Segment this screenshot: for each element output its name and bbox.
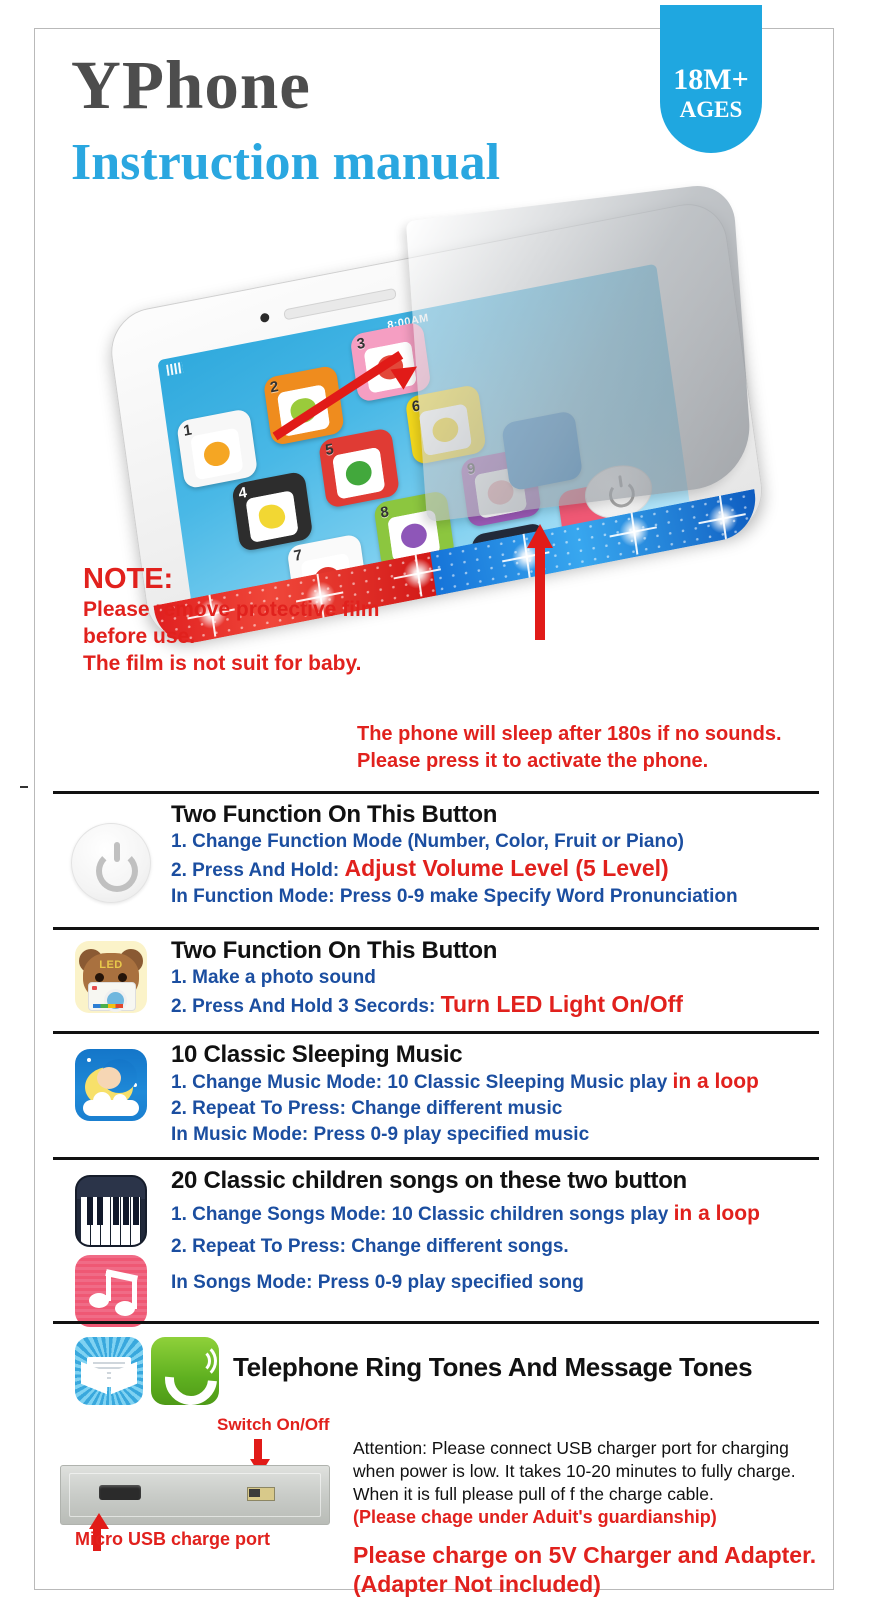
- piano-black-keys: [81, 1197, 141, 1225]
- power-glyph-icon: [96, 850, 138, 892]
- sleep-note-block: The phone will sleep after 180s if no so…: [357, 721, 782, 775]
- sleep-note-line-1: The phone will sleep after 180s if no so…: [357, 721, 782, 748]
- arrow-to-power-button-head: [527, 524, 553, 548]
- section-line-1: 1. Change Function Mode (Number, Color, …: [171, 829, 821, 855]
- cloud-icon: [83, 1100, 139, 1116]
- note-block: NOTE: Please remove protective film befo…: [83, 562, 379, 677]
- section-line-1: 1. Change Music Mode: 10 Classic Sleepin…: [171, 1069, 839, 1096]
- section-bear-text: Two Function On This Button 1. Make a ph…: [171, 937, 821, 1020]
- section-title: Two Function On This Button: [171, 801, 821, 829]
- section-line-2: 2. Repeat To Press: Change different son…: [171, 1234, 839, 1260]
- power-button-icon[interactable]: [71, 823, 151, 903]
- sleeping-music-icon[interactable]: [75, 1049, 147, 1121]
- section-divider: [53, 1157, 819, 1160]
- charge-line-1: Please charge on 5V Charger and Adapter.: [353, 1541, 853, 1570]
- section-divider: [53, 1031, 819, 1034]
- message-icon[interactable]: [75, 1337, 143, 1405]
- piano-icon[interactable]: [75, 1175, 147, 1247]
- section-ring-tones-text: Telephone Ring Tones And Message Tones: [233, 1353, 833, 1381]
- section-power-text: Two Function On This Button 1. Change Fu…: [171, 801, 821, 910]
- protective-film-overlay: [406, 181, 754, 522]
- micro-usb-port: [99, 1485, 141, 1500]
- camera-color-strip: [93, 1004, 123, 1008]
- age-badge: 18M+ AGES: [660, 5, 762, 153]
- section-title: 20 Classic children songs on these two b…: [171, 1167, 839, 1195]
- note-line-2: before use.: [83, 623, 379, 650]
- app-number-5: 5: [324, 441, 335, 459]
- piano-lid: [77, 1177, 145, 1199]
- bear-led-camera-icon[interactable]: LED: [75, 941, 147, 1013]
- section-line-1: 1. Change Songs Mode: 10 Classic childre…: [171, 1201, 839, 1228]
- arrow-to-switch: [254, 1439, 262, 1461]
- sparkle-icon: [399, 554, 437, 594]
- section-line-2-emphasis: Adjust Volume Level (5 Level): [345, 855, 669, 881]
- camera-flash-icon: [92, 986, 97, 990]
- watermelon-fruit-icon: [332, 447, 385, 500]
- note-line-1: Please remove protective film: [83, 596, 379, 623]
- app-icon-1[interactable]: 1: [176, 408, 258, 490]
- note-head-left: [89, 1293, 109, 1308]
- attention-line-3: When it is full please pull of f the cha…: [353, 1483, 853, 1506]
- bear-camera-body: [88, 982, 136, 1011]
- section-line-2: 2. Repeat To Press: Change different mus…: [171, 1096, 839, 1122]
- ring-wave-large: [181, 1343, 217, 1379]
- section-line-2-label: 2. Press And Hold 3 Secords:: [171, 996, 435, 1017]
- section-title: 10 Classic Sleeping Music: [171, 1041, 839, 1069]
- banana-fruit-icon: [245, 490, 298, 543]
- section-divider: [53, 1321, 819, 1324]
- page-title: YPhone: [71, 51, 311, 120]
- earpiece-speaker: [283, 288, 396, 321]
- sparkle-icon: [615, 512, 653, 552]
- section-divider: [53, 927, 819, 930]
- age-badge-line2: AGES: [660, 97, 762, 123]
- section-line-1-label: 1. Change Music Mode: 10 Classic Sleepin…: [171, 1072, 667, 1093]
- front-camera-icon: [260, 312, 270, 323]
- power-switch[interactable]: [247, 1487, 275, 1501]
- section-line-3: In Music Mode: Press 0-9 play specified …: [171, 1122, 839, 1148]
- note-head-right: [115, 1301, 135, 1316]
- charge-line-2: (Adapter Not included): [353, 1570, 853, 1599]
- attention-red-line: (Please chage under Aduit's guardianship…: [353, 1506, 853, 1529]
- section-children-songs-text: 20 Classic children songs on these two b…: [171, 1167, 839, 1296]
- attention-line-2: when power is low. It takes 10-20 minute…: [353, 1460, 853, 1483]
- section-line-1: 1. Make a photo sound: [171, 965, 821, 991]
- arrow-to-usb-head: [89, 1513, 109, 1529]
- section-line-1-emphasis: in a loop: [674, 1202, 760, 1225]
- crop-tick-mark: [20, 786, 28, 788]
- app-number-8: 8: [379, 503, 390, 521]
- manual-page: YPhone Instruction manual 18M+ AGES 8:00…: [34, 28, 834, 1590]
- sleep-note-line-2: Please press it to activate the phone.: [357, 748, 782, 775]
- section-line-3: In Function Mode: Press 0-9 make Specify…: [171, 884, 821, 910]
- app-number-2: 2: [269, 378, 280, 396]
- app-number-4: 4: [237, 484, 248, 502]
- section-title: Telephone Ring Tones And Message Tones: [233, 1353, 833, 1381]
- app-icon-5[interactable]: 5: [318, 427, 400, 509]
- section-line-2-label: 2. Press And Hold:: [171, 860, 339, 881]
- app-number-1: 1: [182, 421, 193, 439]
- section-line-2-emphasis: Turn LED Light On/Off: [441, 991, 683, 1017]
- section-line-1-label: 1. Change Songs Mode: 10 Classic childre…: [171, 1204, 668, 1225]
- note-line-3: The film is not suit for baby.: [83, 650, 379, 677]
- section-line-2: 2. Press And Hold 3 Secords: Turn LED Li…: [171, 991, 821, 1020]
- call-icon[interactable]: [151, 1337, 219, 1405]
- section-line-1-emphasis: in a loop: [673, 1070, 759, 1093]
- star-icon: [87, 1058, 91, 1062]
- app-number-3: 3: [356, 335, 367, 353]
- charge-warning-block: Please charge on 5V Charger and Adapter.…: [353, 1541, 853, 1599]
- note-heading: NOTE:: [83, 562, 379, 596]
- arrow-to-power-button: [535, 544, 545, 640]
- music-note-icon[interactable]: [75, 1255, 147, 1327]
- bear-eye-right: [118, 973, 127, 982]
- signal-bars-icon: [166, 362, 183, 376]
- sparkle-icon: [704, 498, 742, 538]
- section-divider: [53, 791, 819, 794]
- attention-line-1: Attention: Please connect USB charger po…: [353, 1437, 853, 1460]
- app-icon-4[interactable]: 4: [231, 471, 313, 553]
- bear-eye-left: [95, 973, 104, 982]
- attention-block: Attention: Please connect USB charger po…: [353, 1437, 853, 1529]
- section-line-2: 2. Press And Hold: Adjust Volume Level (…: [171, 855, 821, 884]
- age-badge-line1: 18M+: [660, 63, 762, 97]
- bear-led-label: LED: [75, 959, 147, 971]
- switch-label: Switch On/Off: [217, 1415, 329, 1435]
- usb-label: Micro USB charge port: [75, 1529, 270, 1550]
- orange-fruit-icon: [190, 428, 243, 481]
- section-sleeping-music-text: 10 Classic Sleeping Music 1. Change Musi…: [171, 1041, 839, 1148]
- camera-lens-icon: [104, 989, 127, 1012]
- section-line-3: In Songs Mode: Press 0-9 play specified …: [171, 1270, 839, 1296]
- baby-icon: [97, 1067, 121, 1089]
- page-subtitle: Instruction manual: [71, 137, 500, 189]
- section-title: Two Function On This Button: [171, 937, 821, 965]
